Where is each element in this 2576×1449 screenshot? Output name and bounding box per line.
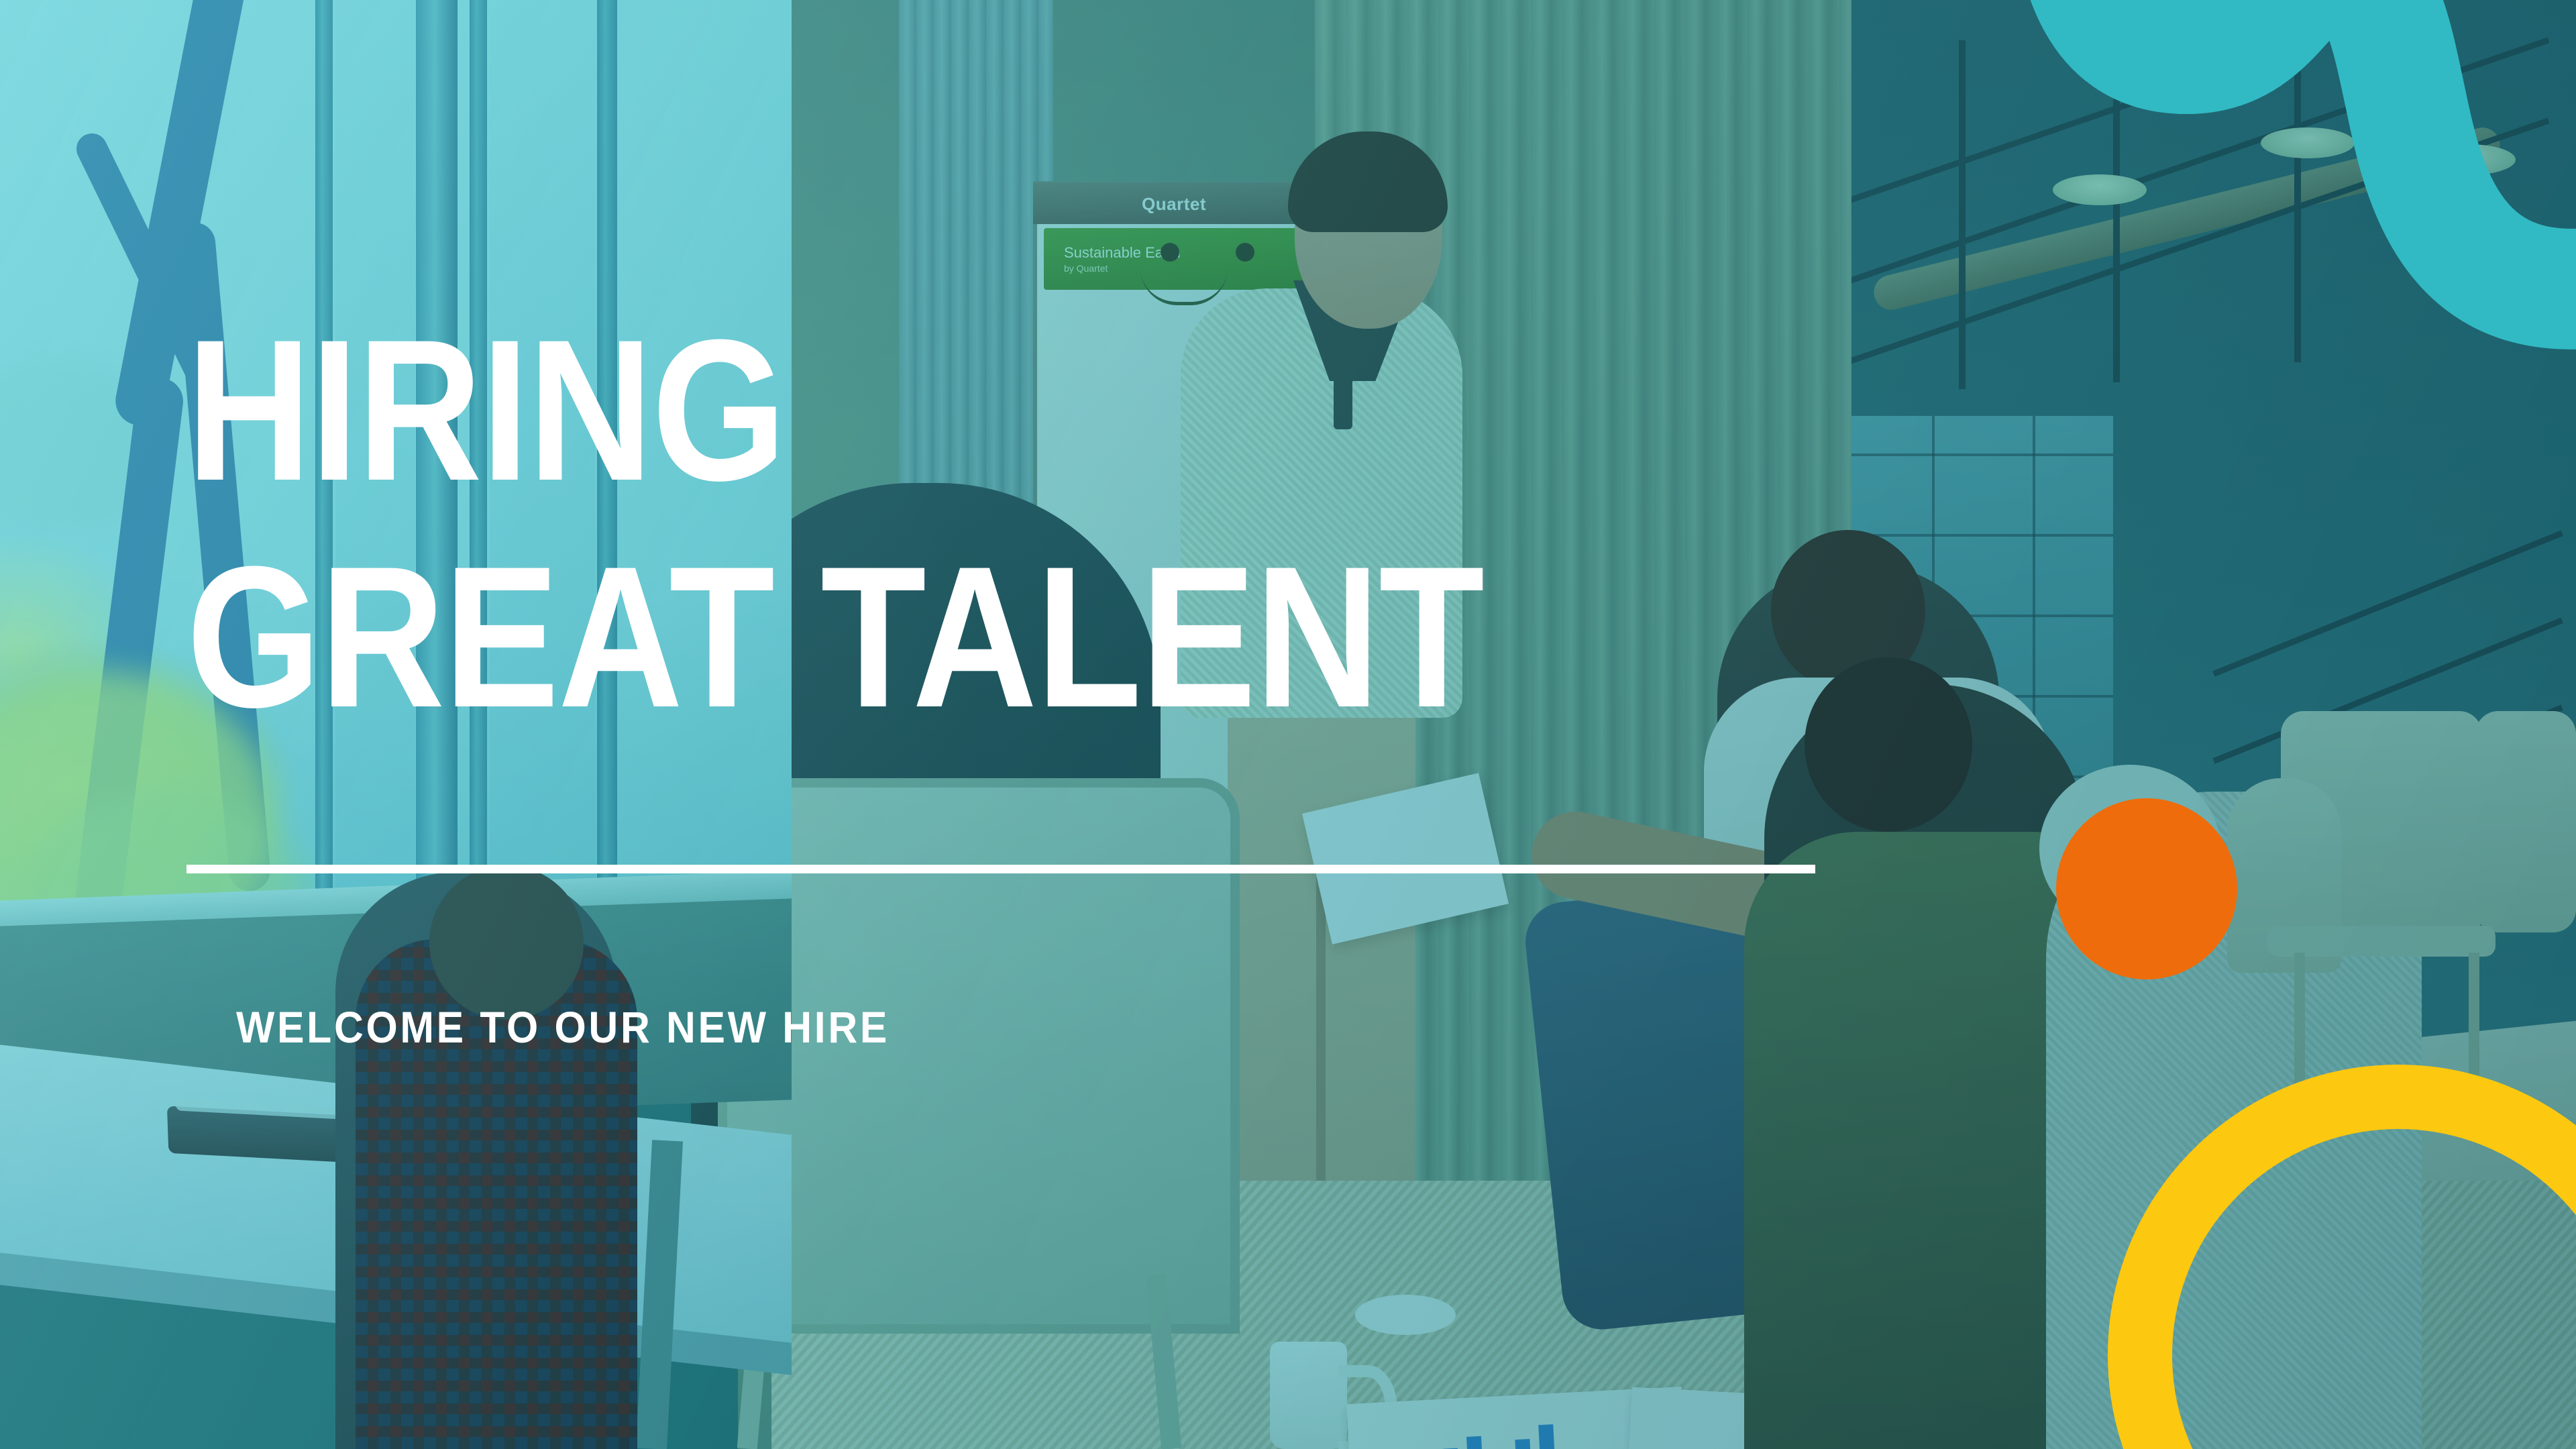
subheading: WELCOME TO OUR NEW HIRE bbox=[236, 1002, 890, 1053]
poster-content: HIRING GREAT TALENT WELCOME TO OUR NEW H… bbox=[0, 0, 2576, 1449]
hiring-poster: Quartet Sustainable Earth by Quartet bbox=[0, 0, 2576, 1449]
headline-line-2: GREAT TALENT bbox=[186, 550, 1483, 723]
divider-rule bbox=[186, 865, 1815, 873]
headline-line-1: HIRING bbox=[186, 323, 786, 496]
